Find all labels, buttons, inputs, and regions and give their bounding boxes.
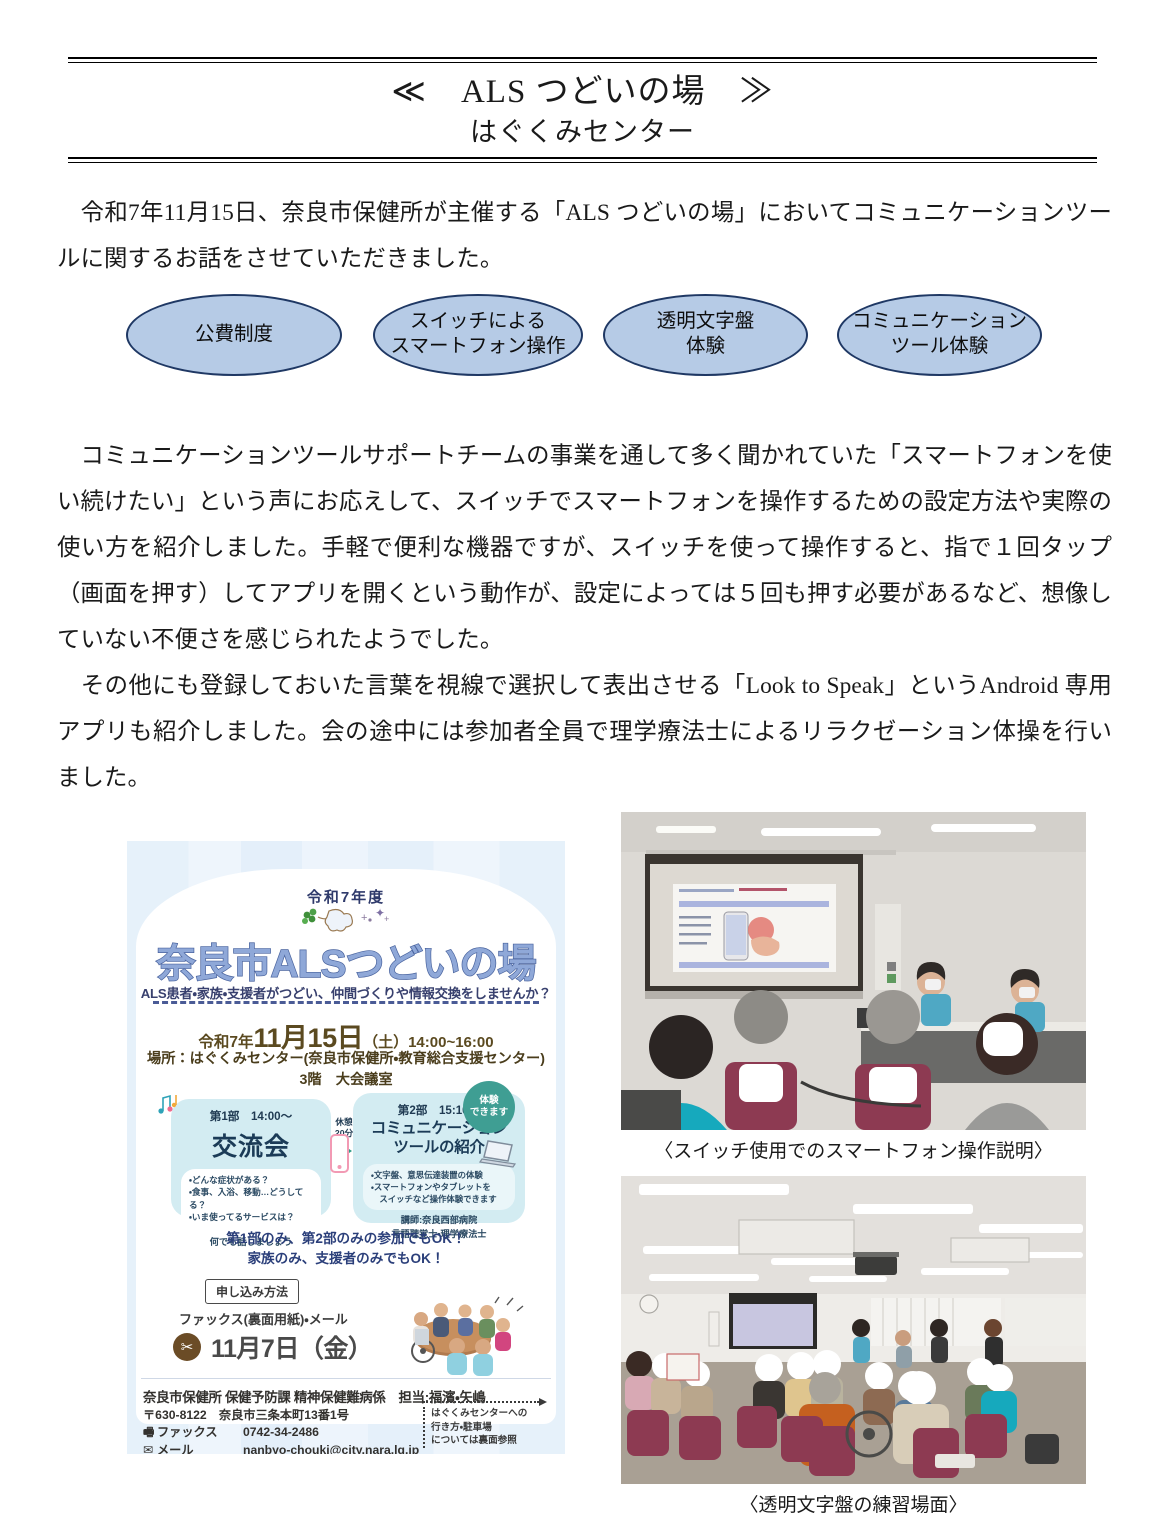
page-subtitle: はぐくみセンター — [68, 115, 1097, 150]
event-poster: 令和7年度 + ✦ + 奈良市ALSつどいの場 ALS患者・家族・支援者がつどい… — [127, 841, 565, 1454]
topic-ellipse-kohi-seido: 公費制度 — [126, 294, 342, 376]
body-paragraph-1: コミュニケーションツールサポートチームの事業を通して多く聞かれていた「スマートフ… — [57, 433, 1112, 663]
poster-note-arrow — [423, 1401, 539, 1403]
poster-ok-line2: 家族のみ、支援者のみでもOK！ — [127, 1249, 565, 1269]
topic-ellipse-row: 公費制度 スイッチによる スマートフォン操作 透明文字盤 体験 コミュニケーショ… — [126, 294, 1046, 380]
poster-fax-label: ファックス — [157, 1424, 243, 1441]
svg-text:+: + — [361, 912, 367, 924]
group-meeting-illustration — [375, 1289, 525, 1377]
poster-experience-badge: 体験 できます — [463, 1081, 515, 1133]
header-rule-bottom — [68, 157, 1097, 163]
poster-session1-bullets: ・どんな症状がある？ ・食事、入浴、移動…どうしてる？ ・いま使ってるサービスは… — [181, 1169, 321, 1229]
poster-divider — [153, 1001, 539, 1004]
document-header: ≪ ALS つどいの場 ≫ はぐくみセンター — [68, 57, 1097, 163]
poster-subtitle: ALS患者・家族・支援者がつどい、仲間づくりや情報交換をしませんか？ — [127, 983, 565, 1002]
photo-2-caption: 〈透明文字盤の練習場面〉 — [621, 1490, 1086, 1517]
music-note-icon — [155, 1089, 185, 1122]
poster-apply-label: 申し込み方法 — [205, 1279, 299, 1304]
poster-title: 奈良市ALSつどいの場 — [127, 933, 565, 989]
photo-transparent-board-practice — [621, 1176, 1086, 1484]
svg-text:+: + — [384, 914, 389, 924]
poster-deco-illustration: + ✦ + — [127, 903, 565, 935]
poster-venue-line1: 場所：はぐくみセンター(奈良市保健所・教育総合支援センター) — [127, 1049, 565, 1070]
poster-session1-head: 第1部 14:00〜 — [171, 1108, 331, 1124]
mail-icon: ✉ — [143, 1442, 157, 1454]
poster-fax-value: 0742-34-2486 — [243, 1425, 319, 1439]
header-titles: ≪ ALS つどいの場 ≫ はぐくみセンター — [68, 63, 1097, 157]
intro-paragraph: 令和7年11月15日、奈良市保健所が主催する「ALS つどいの場」においてコミュ… — [57, 190, 1112, 282]
photo-1-caption: 〈スイッチ使用でのスマートフォン操作説明〉 — [621, 1136, 1086, 1163]
poster-mail-label: メール — [157, 1442, 243, 1454]
poster-mail-value: nanbyo-chouki@city.nara.lg.jp — [243, 1443, 419, 1454]
poster-footer-rule — [141, 1378, 551, 1379]
smartphone-icon — [327, 1133, 353, 1180]
poster-break-label: 休憩 — [335, 1117, 352, 1127]
poster-session1-box: 第1部 14:00〜 交流会 ・どんな症状がある？ ・食事、入浴、移動…どうして… — [171, 1099, 331, 1217]
laptop-icon — [479, 1137, 521, 1176]
poster-session1-title: 交流会 — [171, 1127, 331, 1163]
body-paragraph-2: その他にも登録しておいた言葉を視線で選択して表出させる「Look to Spea… — [57, 663, 1112, 801]
topic-ellipse-transparent-board: 透明文字盤 体験 — [603, 294, 808, 376]
fax-icon: 🖷 — [143, 1424, 157, 1441]
topic-ellipse-communication-tool: コミュニケーション ツール体験 — [837, 294, 1042, 376]
poster-access-note: はぐくみセンターへの 行き方・駐車場 については裏面参照 — [423, 1407, 555, 1448]
scissors-icon: ✂ — [173, 1333, 201, 1361]
poster-organization: 奈良市保健所 保健予防課 精神保健難病係 担当:福濱・矢嶋 — [143, 1386, 486, 1406]
photo-switch-smartphone-demo — [621, 812, 1086, 1130]
poster-deadline: 11月7日（金） — [211, 1329, 372, 1365]
poster-ok-line1: 第1部のみ、第2部のみの参加でもOK！ — [127, 1229, 565, 1249]
poster-contact-block: 〒630-8122 奈良市三条本町13番1号 🖷ファックス0742-34-248… — [143, 1407, 419, 1454]
poster-address: 〒630-8122 奈良市三条本町13番1号 — [143, 1407, 419, 1424]
poster-apply-method: ファックス(裏面用紙)・メール — [179, 1309, 348, 1328]
topic-ellipse-switch-smartphone: スイッチによる スマートフォン操作 — [373, 294, 583, 376]
poster-ok-notes: 第1部のみ、第2部のみの参加でもOK！ 家族のみ、支援者のみでもOK！ — [127, 1229, 565, 1270]
page-title: ≪ ALS つどいの場 ≫ — [68, 72, 1097, 113]
